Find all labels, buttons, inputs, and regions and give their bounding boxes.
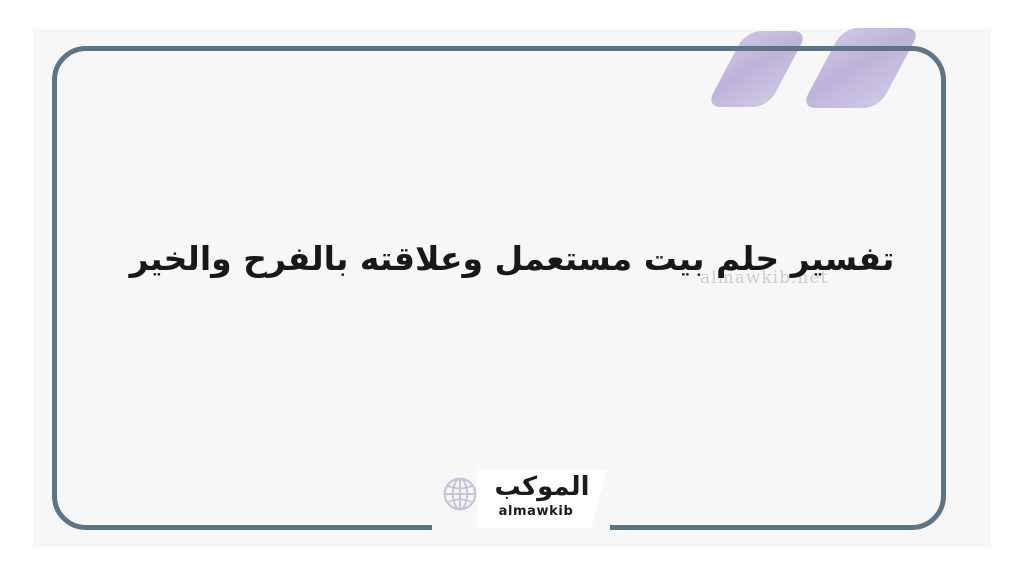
article-card-image: almawkib.net تفسير حلم بيت مستعمل وعلاقت…: [0, 0, 1024, 576]
logo-latin-name: almawkib: [481, 504, 591, 519]
page-title: تفسير حلم بيت مستعمل وعلاقته بالفرح والخ…: [0, 236, 1024, 282]
logo-arabic-name: الموكب: [487, 471, 597, 503]
globe-icon: [441, 475, 479, 513]
card-frame-border: [52, 46, 946, 530]
article-title: تفسير حلم بيت مستعمل وعلاقته بالفرح والخ…: [0, 236, 1024, 282]
site-logo[interactable]: الموكب almawkib: [441, 470, 607, 530]
